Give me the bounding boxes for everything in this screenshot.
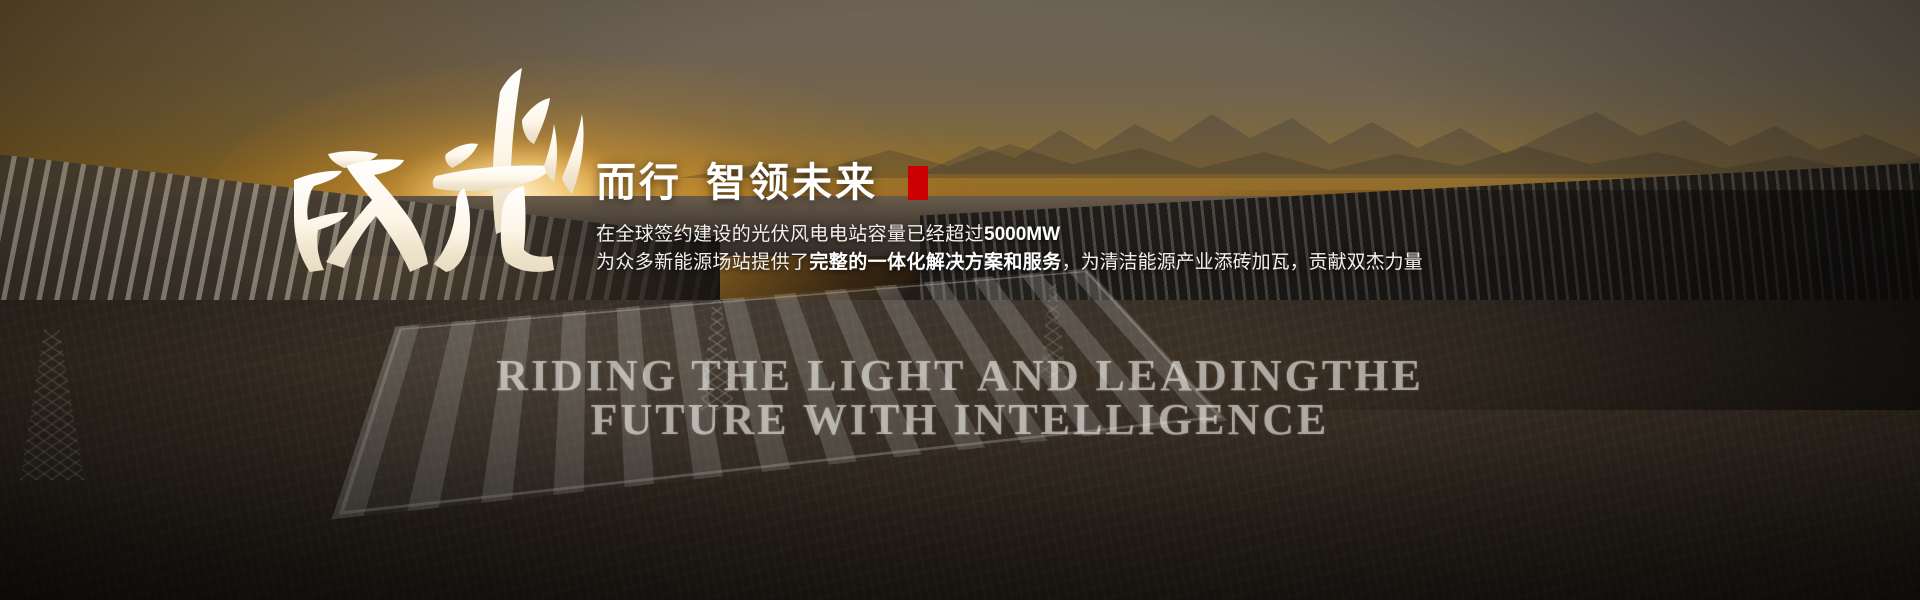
red-accent-block <box>908 166 928 200</box>
headline-part-b: 智领未来 <box>706 160 878 206</box>
subtitle-line-1-text: 在全球签约建设的光伏风电电站容量已经超过 <box>596 224 984 245</box>
subtitle-line-2: 为众多新能源场站提供了完整的一体化解决方案和服务，为清洁能源产业添砖加瓦，贡献双… <box>596 250 1596 276</box>
vignette-overlay <box>0 0 1920 600</box>
headline-part-a: 而行 <box>596 160 682 206</box>
capacity-value: 5000MW <box>984 224 1060 245</box>
banner-copy: 而行 智领未来 在全球签约建设的光伏风电电站容量已经超过5000MW 为众多新能… <box>596 160 1596 276</box>
subtitle-line-2-mid: ，为清洁能源产业添砖加瓦 <box>1062 252 1290 273</box>
page-title: 而行 智领未来 <box>596 160 1596 206</box>
subtitle-line-2-suffix: ，贡献双杰力量 <box>1290 252 1423 273</box>
subtitle-line-1: 在全球签约建设的光伏风电电站容量已经超过5000MW <box>596 222 1596 248</box>
subtitle-line-2-prefix: 为众多新能源场站提供了 <box>596 252 809 273</box>
hero-banner: 而行 智领未来 在全球签约建设的光伏风电电站容量已经超过5000MW 为众多新能… <box>0 0 1920 600</box>
subtitle-line-2-highlight: 完整的一体化解决方案和服务 <box>809 252 1061 273</box>
